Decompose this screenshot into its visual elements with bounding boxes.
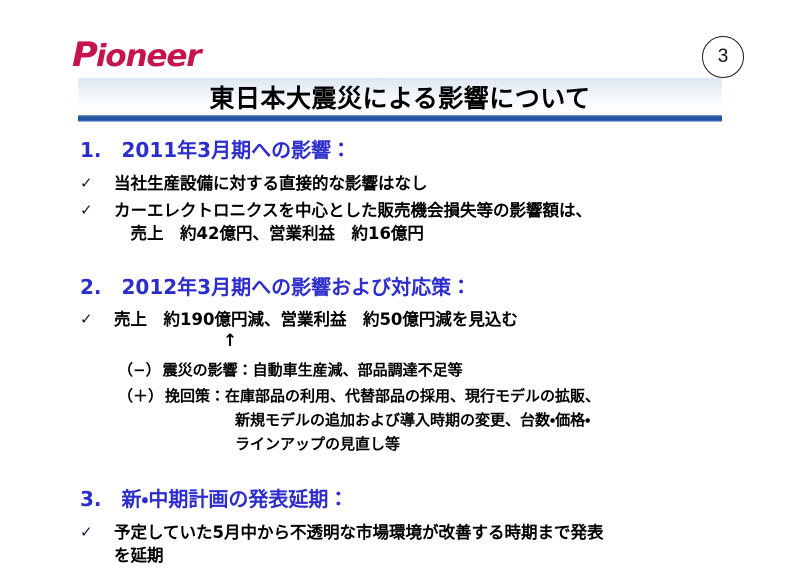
bullet-text: 当社生産設備に対する直接的な影響はなし <box>114 172 428 195</box>
subitem-line: ラインアップの見直し等 <box>165 432 600 456</box>
page-number-badge: 3 <box>702 36 744 78</box>
bullet-line: 売上 約42億円、営業利益 約16億円 <box>114 222 592 245</box>
plus-sign-label: （＋） <box>118 384 165 408</box>
section-3-heading: 3. 新・中期計画の発表延期： <box>80 483 800 512</box>
section-1-heading: 1. 2011年3月期への影響： <box>80 134 800 163</box>
page-number-label: 3 <box>718 46 729 68</box>
minus-sign-label: （−） <box>118 358 163 382</box>
subitem-text: 震災の影響：自動車生産減、部品調達不足等 <box>163 358 463 382</box>
bullet-line: を延期 <box>114 544 604 567</box>
section-2-subitem-positive: （＋） 挽回策：在庫部品の利用、代替部品の採用、現行モデルの拡販、 新規モデルの… <box>118 384 800 456</box>
bullet-text: カーエレクトロニクスを中心とした販売機会損失等の影響額は、 売上 約42億円、営… <box>114 199 592 245</box>
bullet-line: 予定していた5月中から不透明な市場環境が改善する時期まで発表 <box>114 523 604 542</box>
subitem-line: 新規モデルの追加および導入時期の変更、台数・価格・ <box>165 408 600 432</box>
check-icon: ✓ <box>80 199 114 221</box>
section-1-bullet-1: ✓ 当社生産設備に対する直接的な影響はなし <box>80 172 800 195</box>
section-2-heading: 2. 2012年3月期への影響および対応策： <box>80 271 800 300</box>
section-2-bullet-1: ✓ 売上 約190億円減、営業利益 約50億円減を見込む <box>80 308 800 331</box>
bullet-text: 売上 約190億円減、営業利益 約50億円減を見込む <box>114 308 518 331</box>
title-underline-rule <box>78 115 722 122</box>
section-3-bullet-1: ✓ 予定していた5月中から不透明な市場環境が改善する時期まで発表 を延期 <box>80 521 800 567</box>
subitem-line: 挽回策：在庫部品の利用、代替部品の採用、現行モデルの拡販、 <box>165 387 600 405</box>
logo-wordmark: ioneer <box>96 39 201 74</box>
section-1-bullet-2: ✓ カーエレクトロニクスを中心とした販売機会損失等の影響額は、 売上 約42億円… <box>80 199 800 245</box>
section-2: 2. 2012年3月期への影響および対応策： ✓ 売上 約190億円減、営業利益… <box>0 271 800 456</box>
check-icon: ✓ <box>80 308 114 330</box>
slide-body: 1. 2011年3月期への影響： ✓ 当社生産設備に対する直接的な影響はなし ✓… <box>0 126 800 567</box>
logo-initial: P <box>72 35 96 75</box>
section-2-subitem-negative: （−） 震災の影響：自動車生産減、部品調達不足等 <box>118 358 800 382</box>
section-3: 3. 新・中期計画の発表延期： ✓ 予定していた5月中から不透明な市場環境が改善… <box>0 483 800 567</box>
subitem-text: 挽回策：在庫部品の利用、代替部品の採用、現行モデルの拡販、 新規モデルの追加およ… <box>165 384 600 456</box>
bullet-line: カーエレクトロニクスを中心とした販売機会損失等の影響額は、 <box>114 201 592 220</box>
section-1: 1. 2011年3月期への影響： ✓ 当社生産設備に対する直接的な影響はなし ✓… <box>0 134 800 245</box>
check-icon: ✓ <box>80 521 114 543</box>
up-arrow-icon: ↑ <box>223 334 800 348</box>
pioneer-logo: Pioneer <box>72 38 200 72</box>
slide-title: 東日本大震災による影響について <box>78 79 722 115</box>
bullet-text: 予定していた5月中から不透明な市場環境が改善する時期まで発表 を延期 <box>114 521 604 567</box>
check-icon: ✓ <box>80 172 114 194</box>
